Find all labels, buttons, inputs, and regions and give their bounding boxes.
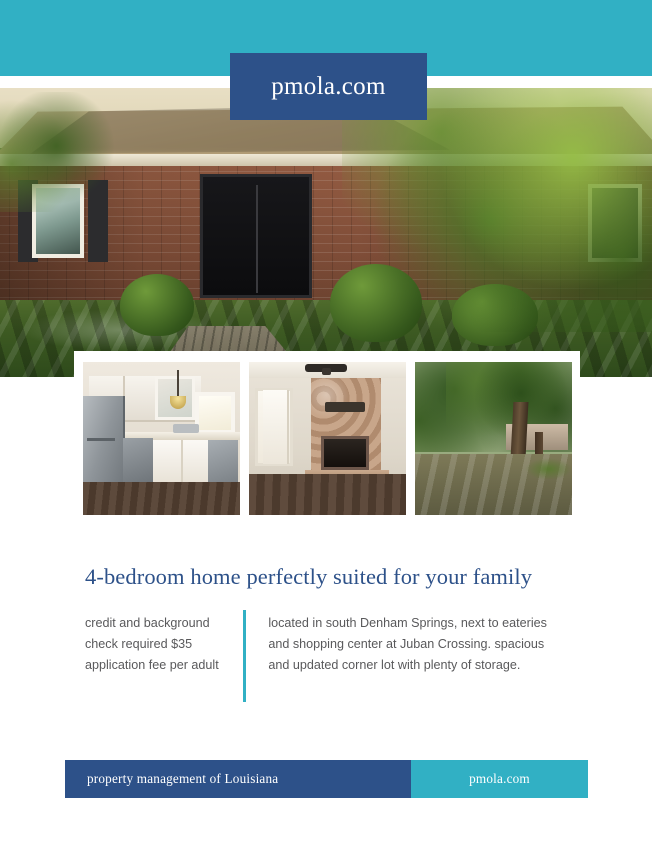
thumbnail-kitchen[interactable]	[83, 362, 240, 515]
hero-photo	[0, 88, 652, 377]
fireplace-room-door	[263, 390, 289, 464]
column-divider	[243, 610, 246, 702]
kitchen-range	[123, 438, 153, 488]
fireplace-room-floor	[249, 474, 406, 515]
footer-website-block[interactable]: pmola.com	[411, 760, 588, 798]
kitchen-refrigerator	[83, 396, 125, 490]
hero-tree-left	[0, 92, 124, 212]
footer-company-label: property management of Louisiana	[87, 771, 278, 787]
hero-entry-door	[200, 174, 312, 298]
description-columns: credit and background check required $35…	[85, 613, 565, 702]
page-title: 4-bedroom home perfectly suited for your…	[85, 564, 585, 590]
hero-tree-right	[342, 88, 652, 332]
kitchen-sink	[173, 424, 199, 433]
thumbnail-fireplace[interactable]	[249, 362, 406, 515]
thumbnail-yard[interactable]	[415, 362, 572, 515]
fireplace-mantel-plaque	[325, 402, 365, 412]
kitchen-floor	[83, 482, 240, 515]
brand-badge-label: pmola.com	[271, 73, 385, 101]
thumbnail-gallery	[74, 351, 580, 526]
fireplace-firebox	[321, 436, 369, 470]
footer-company-block: property management of Louisiana	[65, 760, 411, 798]
ceiling-fan-icon	[305, 364, 347, 372]
kitchen-pendant-light-icon	[177, 370, 179, 396]
hero-shrub-1	[120, 274, 194, 336]
kitchen-dishwasher	[208, 440, 238, 486]
brand-badge[interactable]: pmola.com	[230, 53, 427, 120]
requirements-text: credit and background check required $35…	[85, 613, 233, 702]
location-text: located in south Denham Springs, next to…	[268, 613, 565, 702]
yard-grass-patch	[525, 458, 572, 480]
footer-bar: property management of Louisiana pmola.c…	[65, 760, 588, 798]
footer-website-label: pmola.com	[469, 771, 530, 787]
kitchen-window	[195, 392, 235, 434]
